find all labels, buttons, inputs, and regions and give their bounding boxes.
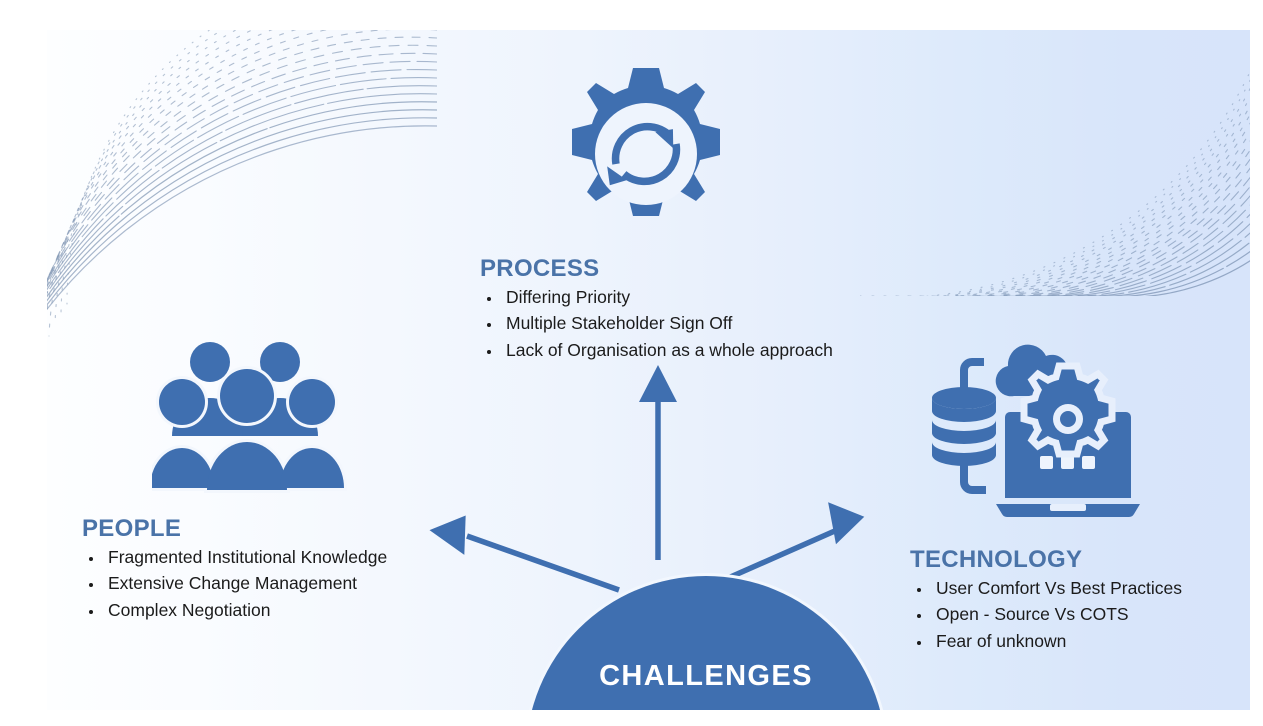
people-heading: PEOPLE [82, 515, 482, 543]
laptop-gear-icon [1024, 366, 1112, 454]
content-panel: CHALLENGES [47, 30, 1250, 710]
slide-canvas: CHALLENGES [0, 0, 1263, 726]
process-heading: PROCESS [480, 255, 845, 283]
challenges-label: CHALLENGES [526, 660, 886, 693]
list-item: Open - Source Vs COTS [932, 601, 1250, 628]
list-item: User Comfort Vs Best Practices [932, 575, 1250, 602]
list-item: Complex Negotiation [104, 597, 482, 624]
database-cloud-laptop-icon [932, 328, 1142, 528]
people-list: Fragmented Institutional Knowledge Exten… [82, 544, 482, 624]
process-block: PROCESS Differing Priority Multiple Stak… [480, 255, 845, 363]
list-item: Fear of unknown [932, 628, 1250, 655]
process-list: Differing Priority Multiple Stakeholder … [480, 284, 845, 364]
people-group-icon [152, 340, 347, 500]
list-item: Multiple Stakeholder Sign Off [502, 310, 845, 337]
list-item: Lack of Organisation as a whole approach [502, 337, 845, 364]
technology-heading: TECHNOLOGY [910, 546, 1250, 574]
list-item: Extensive Change Management [104, 570, 482, 597]
people-block: PEOPLE Fragmented Institutional Knowledg… [82, 515, 482, 623]
list-item: Fragmented Institutional Knowledge [104, 544, 482, 571]
list-item: Differing Priority [502, 284, 845, 311]
technology-list: User Comfort Vs Best Practices Open - So… [910, 575, 1250, 655]
database-shape [932, 387, 996, 466]
arrow-to-process [639, 365, 677, 560]
technology-block: TECHNOLOGY User Comfort Vs Best Practice… [910, 546, 1250, 654]
gear-refresh-icon [556, 62, 736, 247]
